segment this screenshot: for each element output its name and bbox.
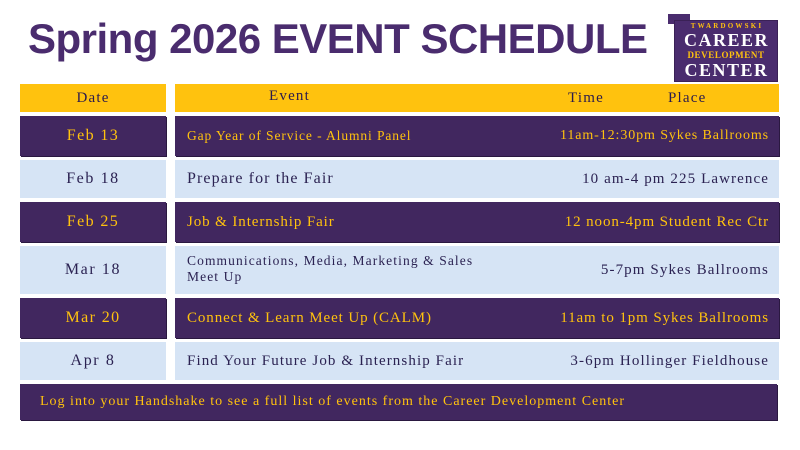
table-row[interactable]: Mar 18 Communications, Media, Marketing … bbox=[0, 246, 800, 294]
row-body-cell: Job & Internship Fair 12 noon-4pm Studen… bbox=[175, 202, 779, 242]
row-date-cell: Feb 18 bbox=[20, 160, 166, 198]
row-time-place-text: 11am to 1pm Sykes Ballrooms bbox=[560, 310, 769, 327]
table-header-row: Date Event Time Place bbox=[0, 84, 800, 112]
row-date-text: Feb 18 bbox=[66, 170, 120, 188]
title-bar: Spring 2026 EVENT SCHEDULE TWARDOWSKI CA… bbox=[0, 0, 800, 84]
header-label-time: Time bbox=[568, 90, 604, 107]
header-label-event: Event bbox=[269, 88, 310, 105]
handshake-footer-banner: Log into your Handshake to see a full li… bbox=[20, 384, 777, 420]
table-row[interactable]: Feb 25 Job & Internship Fair 12 noon-4pm… bbox=[0, 202, 800, 242]
row-date-text: Mar 18 bbox=[65, 261, 121, 279]
row-time-place-text: 11am-12:30pm Sykes Ballrooms bbox=[560, 128, 769, 144]
table-row[interactable]: Feb 18 Prepare for the Fair 10 am-4 pm 2… bbox=[0, 160, 800, 198]
row-time-place-text: 3-6pm Hollinger Fieldhouse bbox=[570, 353, 769, 370]
row-body-cell: Gap Year of Service - Alumni Panel 11am-… bbox=[175, 116, 779, 156]
footer-banner-text: Log into your Handshake to see a full li… bbox=[40, 394, 625, 410]
header-cell-body: Event Time Place bbox=[175, 84, 779, 112]
header-label-place: Place bbox=[668, 90, 706, 107]
row-date-cell: Feb 13 bbox=[20, 116, 166, 156]
table-row[interactable]: Mar 20 Connect & Learn Meet Up (CALM) 11… bbox=[0, 298, 800, 338]
row-event-text: Find Your Future Job & Internship Fair bbox=[187, 353, 464, 369]
row-event-text: Connect & Learn Meet Up (CALM) bbox=[187, 310, 432, 326]
schedule-table: Date Event Time Place Feb 13 Gap Year of… bbox=[0, 84, 800, 384]
row-time-place-text: 5-7pm Sykes Ballrooms bbox=[601, 262, 769, 279]
row-time-place-text: 10 am-4 pm 225 Lawrence bbox=[582, 171, 769, 188]
row-date-cell: Feb 25 bbox=[20, 202, 166, 242]
row-body-cell: Find Your Future Job & Internship Fair 3… bbox=[175, 342, 779, 380]
row-event-text: Prepare for the Fair bbox=[187, 171, 334, 187]
career-development-center-logo: TWARDOWSKI CAREER DEVELOPMENT CENTER bbox=[674, 20, 778, 82]
row-date-cell: Mar 18 bbox=[20, 246, 166, 294]
row-date-text: Apr 8 bbox=[71, 352, 116, 370]
table-row[interactable]: Apr 8 Find Your Future Job & Internship … bbox=[0, 342, 800, 380]
table-row[interactable]: Feb 13 Gap Year of Service - Alumni Pane… bbox=[0, 116, 800, 156]
row-body-cell: Prepare for the Fair 10 am-4 pm 225 Lawr… bbox=[175, 160, 779, 198]
row-date-text: Mar 20 bbox=[65, 309, 120, 327]
logo-career-text: CAREER bbox=[684, 31, 769, 50]
page-title: Spring 2026 EVENT SCHEDULE bbox=[28, 16, 647, 62]
row-time-place-text: 12 noon-4pm Student Rec Ctr bbox=[565, 214, 769, 231]
row-date-cell: Mar 20 bbox=[20, 298, 166, 338]
row-event-text: Gap Year of Service - Alumni Panel bbox=[187, 128, 411, 144]
header-cell-date: Date bbox=[20, 84, 166, 112]
row-event-text: Job & Internship Fair bbox=[187, 214, 335, 230]
row-event-text: Communications, Media, Marketing & Sales… bbox=[187, 253, 473, 285]
header-label-date: Date bbox=[76, 90, 109, 107]
row-body-cell: Connect & Learn Meet Up (CALM) 11am to 1… bbox=[175, 298, 779, 338]
row-date-cell: Apr 8 bbox=[20, 342, 166, 380]
logo-center-text: CENTER bbox=[684, 61, 768, 80]
row-date-text: Feb 13 bbox=[67, 127, 119, 145]
row-body-cell: Communications, Media, Marketing & Sales… bbox=[175, 246, 779, 294]
row-date-text: Feb 25 bbox=[67, 213, 119, 231]
